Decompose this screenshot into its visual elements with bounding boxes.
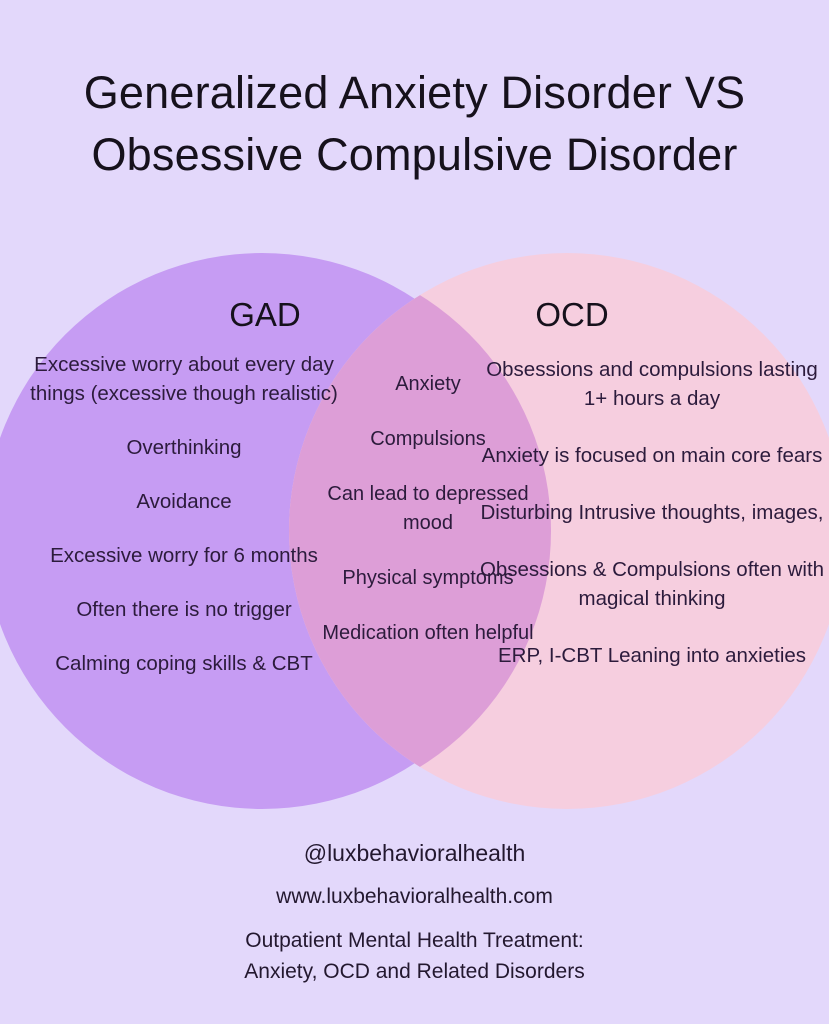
tagline-line-2: Anxiety, OCD and Related Disorders [0, 956, 829, 987]
venn-heading-gad: GAD [165, 296, 365, 334]
list-item: Obsessions & Compulsions often with magi… [478, 555, 826, 613]
list-item: Overthinking [16, 433, 352, 462]
list-item: Avoidance [16, 487, 352, 516]
infographic-page: Generalized Anxiety Disorder VS Obsessiv… [0, 0, 829, 1024]
social-handle: @luxbehavioralhealth [0, 836, 829, 870]
list-item: ERP, I-CBT Leaning into anxieties [478, 641, 826, 670]
list-item: Calming coping skills & CBT [16, 649, 352, 678]
list-item: Often there is no trigger [16, 595, 352, 624]
list-item: Disturbing Intrusive thoughts, images, [478, 498, 826, 527]
title-line-1: Generalized Anxiety Disorder VS [0, 62, 829, 124]
venn-list-ocd: Obsessions and compulsions lasting 1+ ho… [478, 355, 826, 698]
list-item: Excessive worry for 6 months [16, 541, 352, 570]
footer: @luxbehavioralhealth www.luxbehavioralhe… [0, 836, 829, 987]
list-item: Anxiety is focused on main core fears [478, 441, 826, 470]
website-url: www.luxbehavioralhealth.com [0, 881, 829, 913]
list-item: Excessive worry about every day things (… [16, 350, 352, 408]
title-line-2: Obsessive Compulsive Disorder [0, 124, 829, 186]
list-item: Obsessions and compulsions lasting 1+ ho… [478, 355, 826, 413]
page-title: Generalized Anxiety Disorder VS Obsessiv… [0, 62, 829, 186]
venn-heading-ocd: OCD [472, 296, 672, 334]
tagline-line-1: Outpatient Mental Health Treatment: [0, 925, 829, 956]
venn-list-gad: Excessive worry about every day things (… [16, 350, 352, 678]
